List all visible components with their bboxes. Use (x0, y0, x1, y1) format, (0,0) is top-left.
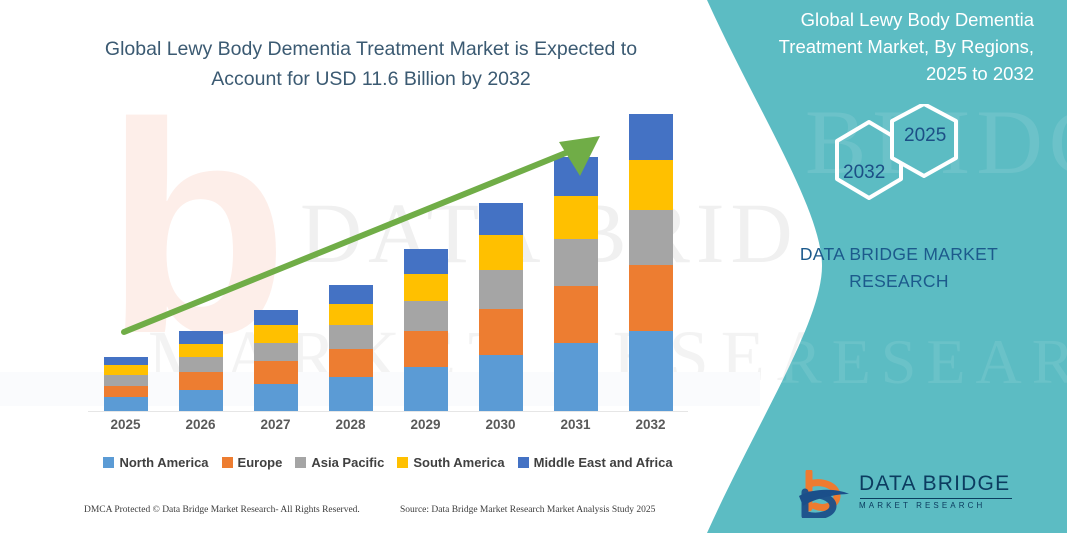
bar-segment (629, 114, 673, 160)
x-tick-label: 2030 (466, 417, 536, 432)
logo-primary-text: DATA BRIDGE (859, 472, 1012, 496)
bar-segment (104, 365, 148, 375)
bar-segment (329, 377, 373, 411)
bar-segment (179, 331, 223, 344)
bar-segment (479, 309, 523, 355)
bar-column (104, 357, 148, 412)
legend-label: Middle East and Africa (534, 455, 673, 470)
logo-secondary-text: MARKET RESEARCH (859, 501, 1012, 510)
bar-segment (404, 367, 448, 411)
bar-segment (629, 265, 673, 331)
bar-segment (404, 274, 448, 301)
bar-segment (329, 285, 373, 304)
bar-segment (404, 301, 448, 331)
page-title: Global Lewy Body Dementia Treatment Mark… (88, 34, 654, 94)
hexagon-label-2025: 2025 (904, 125, 946, 147)
legend-label: South America (413, 455, 504, 470)
bar-segment (254, 310, 298, 326)
footer-source: Source: Data Bridge Market Research Mark… (400, 505, 655, 515)
bar-segment (554, 196, 598, 239)
legend-swatch (295, 457, 306, 468)
bar-segment (254, 384, 298, 411)
bar-column (254, 310, 298, 411)
legend-item[interactable]: Middle East and Africa (518, 455, 673, 470)
legend-item[interactable]: Europe (222, 455, 283, 470)
x-tick-label: 2025 (91, 417, 161, 432)
legend-swatch (103, 457, 114, 468)
bar-column (554, 157, 598, 411)
legend-label: Europe (238, 455, 283, 470)
legend-swatch (518, 457, 529, 468)
x-axis-line (88, 411, 688, 412)
x-tick-label: 2032 (616, 417, 686, 432)
legend-swatch (397, 457, 408, 468)
regions-panel: BRIDGE RESEARCH Global Lewy Body Dementi… (687, 0, 1067, 533)
x-tick-label: 2027 (241, 417, 311, 432)
x-tick-label: 2029 (391, 417, 461, 432)
bar-segment (554, 343, 598, 411)
legend-swatch (222, 457, 233, 468)
bar-segment (254, 343, 298, 361)
year-hexagons: 2032 2025 (807, 104, 997, 219)
stacked-bar-chart: 20252026202720282029203020312032 (88, 120, 688, 420)
bar-column (329, 284, 373, 411)
legend-item[interactable]: North America (103, 455, 208, 470)
hexagon-label-2032: 2032 (843, 162, 885, 184)
bar-segment (329, 304, 373, 325)
logo-text: DATA BRIDGE MARKET RESEARCH (859, 472, 1012, 510)
bar-segment (479, 355, 523, 411)
bar-segment (254, 325, 298, 343)
bar-segment (554, 239, 598, 287)
legend-item[interactable]: Asia Pacific (295, 455, 384, 470)
panel-brand-text: DATA BRIDGE MARKET RESEARCH (769, 241, 1029, 295)
x-tick-label: 2028 (316, 417, 386, 432)
bar-segment (104, 375, 148, 386)
footer-copyright: DMCA Protected © Data Bridge Market Rese… (84, 505, 360, 515)
bar-segment (254, 361, 298, 383)
panel-title: Global Lewy Body Dementia Treatment Mark… (768, 6, 1034, 87)
data-bridge-mark-icon (793, 470, 851, 518)
bar-segment (629, 210, 673, 265)
bar-segment (629, 160, 673, 210)
bar-segment (104, 357, 148, 366)
legend-label: North America (119, 455, 208, 470)
chart-plot-area (88, 120, 688, 412)
bar-segment (479, 270, 523, 309)
footer: DMCA Protected © Data Bridge Market Rese… (0, 505, 700, 527)
bar-segment (404, 249, 448, 274)
bar-segment (329, 325, 373, 348)
panel-watermark-bottom: RESEARCH (779, 330, 1067, 394)
bar-segment (479, 235, 523, 270)
bar-segment (479, 203, 523, 235)
bar-segment (104, 386, 148, 398)
data-bridge-logo: DATA BRIDGE MARKET RESEARCH (793, 470, 1033, 520)
logo-divider (860, 498, 1012, 499)
bar-segment (629, 331, 673, 411)
infographic-slide: b DATA BRID MARKET RESEARC Global Lewy B… (0, 0, 1067, 533)
bar-segment (179, 344, 223, 358)
bar-segment (554, 157, 598, 196)
legend-label: Asia Pacific (311, 455, 384, 470)
bar-column (479, 203, 523, 411)
bar-segment (179, 372, 223, 390)
bar-segment (554, 286, 598, 342)
bar-segment (104, 397, 148, 411)
x-tick-label: 2031 (541, 417, 611, 432)
chart-legend: North AmericaEuropeAsia PacificSouth Ame… (88, 455, 688, 470)
bar-segment (179, 390, 223, 411)
legend-item[interactable]: South America (397, 455, 504, 470)
bar-segment (329, 349, 373, 377)
bar-column (404, 248, 448, 411)
bar-segment (179, 357, 223, 372)
x-axis-tick-labels: 20252026202720282029203020312032 (88, 417, 688, 441)
x-tick-label: 2026 (166, 417, 236, 432)
bar-segment (404, 331, 448, 367)
bar-column (629, 114, 673, 411)
bar-column (179, 331, 223, 411)
